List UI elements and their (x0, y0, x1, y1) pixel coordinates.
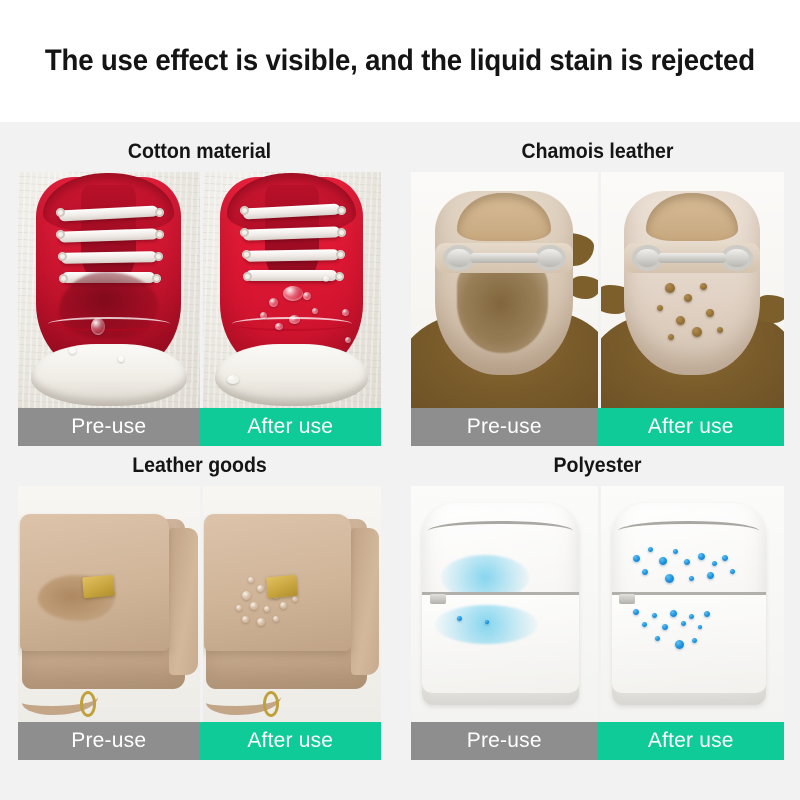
liquid-droplet-icon (342, 309, 349, 316)
comparison-pair-polyester (411, 486, 784, 722)
comparison-pair-chamois-leather (411, 172, 784, 408)
mud-droplet-icon (668, 334, 674, 340)
ink-droplet-icon (655, 636, 660, 641)
ink-droplet-icon (692, 638, 697, 643)
shoelace-icon (61, 251, 157, 264)
ink-droplet-icon (707, 572, 714, 579)
handbag-gusset (351, 528, 380, 674)
card-leather-goods: Leather goods (18, 446, 381, 760)
horsebit-hardware-icon (443, 245, 566, 271)
eyelet-icon (58, 252, 67, 261)
eyelet-icon (242, 250, 251, 259)
backpack-top-zipper-icon (428, 521, 572, 531)
photo-chamois-after-use (598, 172, 785, 408)
eyelet-icon (335, 272, 344, 281)
horsebit-bar-icon (658, 253, 726, 262)
ink-droplet-icon (684, 559, 690, 565)
label-bar-cotton-material: Pre-use After use (18, 408, 381, 446)
ink-droplet-icon (670, 610, 677, 617)
backpack-body (422, 503, 579, 706)
eyelet-icon (152, 274, 161, 283)
liquid-droplet-icon (257, 618, 265, 626)
eyelet-icon (243, 272, 252, 281)
label-pre-use: Pre-use (411, 408, 598, 446)
shoelace-icon (243, 227, 340, 241)
liquid-droplet-icon (323, 276, 329, 282)
horsebit-hardware-icon (632, 245, 753, 271)
photo-chamois-pre-use (411, 172, 598, 408)
mud-droplet-icon (684, 294, 692, 302)
eyelet-icon (154, 252, 163, 261)
liquid-droplet-icon (283, 286, 303, 301)
label-after-use: After use (598, 722, 785, 760)
label-pre-use: Pre-use (18, 722, 200, 760)
photo-leather-after-use (200, 486, 382, 722)
backpack-zipper-pull-icon (619, 594, 635, 604)
ink-droplet-icon (642, 569, 648, 575)
eyelet-icon (336, 250, 345, 259)
liquid-droplet-icon (242, 616, 249, 623)
photo-leather-pre-use (18, 486, 200, 722)
sneaker-sole (31, 344, 187, 405)
ink-droplet-icon (698, 625, 702, 629)
ink-droplet-icon (633, 609, 639, 615)
photo-cotton-after-use (200, 172, 382, 408)
ink-droplet-icon (712, 561, 717, 566)
mud-droplet-icon (657, 305, 663, 311)
photo-polyester-pre-use (411, 486, 598, 722)
liquid-droplet-icon (303, 292, 311, 300)
ink-droplet-icon (665, 574, 674, 583)
liquid-droplet-icon (118, 356, 124, 362)
sneaker-sole (215, 344, 369, 405)
horsebit-ring-icon (721, 245, 752, 271)
photo-polyester-after-use (598, 486, 785, 722)
page-title: The use effect is visible, and the liqui… (45, 44, 755, 78)
liquid-droplet-icon (312, 308, 318, 314)
ink-droplet-icon (675, 640, 684, 649)
horsebit-bar-icon (470, 253, 539, 262)
label-bar-leather-goods: Pre-use After use (18, 722, 381, 760)
ink-droplet-icon (722, 555, 728, 561)
backpack-body (612, 503, 766, 706)
eyelet-icon (337, 228, 346, 237)
shoelace-icon (245, 249, 339, 262)
backpack-zipper-pull-icon (430, 594, 446, 604)
liquid-droplet-icon (280, 602, 287, 609)
ink-droplet-icon (689, 576, 694, 581)
card-title-chamois-leather: Chamois leather (424, 132, 771, 172)
label-pre-use: Pre-use (18, 408, 200, 446)
label-bar-polyester: Pre-use After use (411, 722, 784, 760)
ink-droplet-icon (689, 614, 694, 619)
liquid-droplet-icon (264, 606, 270, 612)
mud-droplet-icon (692, 327, 702, 337)
label-bar-chamois-leather: Pre-use After use (411, 408, 784, 446)
label-pre-use: Pre-use (411, 722, 598, 760)
liquid-droplet-icon (69, 347, 76, 354)
ink-stain-soaked (435, 605, 538, 644)
eyelet-icon (155, 230, 164, 239)
ink-droplet-icon (662, 624, 668, 630)
handbag-clasp-icon (266, 574, 298, 598)
ink-droplet-icon (698, 553, 705, 560)
ink-droplet-icon (704, 611, 710, 617)
loafer-collar (457, 193, 551, 241)
handbag-clasp-icon (82, 574, 115, 598)
liquid-droplet-icon (248, 577, 254, 583)
ink-droplet-icon (648, 547, 653, 552)
comparison-pair-leather-goods (18, 486, 381, 722)
ink-droplet-icon (659, 557, 667, 565)
card-title-polyester: Polyester (424, 446, 771, 486)
liquid-droplet-icon (91, 318, 105, 335)
liquid-droplet-icon (257, 585, 264, 592)
liquid-droplet-icon (292, 596, 298, 602)
ink-droplet-icon (642, 622, 647, 627)
backpack-front-pocket (612, 592, 766, 693)
mud-droplet-icon (706, 309, 714, 317)
ink-droplet-icon (673, 549, 678, 554)
banner-header: The use effect is visible, and the liqui… (0, 0, 800, 122)
ink-droplet-icon (652, 613, 657, 618)
shoelace-icon (59, 229, 158, 243)
card-polyester: Polyester (411, 446, 784, 760)
ink-droplet-icon (633, 555, 640, 562)
liquid-droplet-icon (273, 616, 279, 622)
mud-droplet-icon (717, 327, 723, 333)
loafer-upper (624, 191, 760, 375)
card-title-leather-goods: Leather goods (31, 446, 369, 486)
material-demo-grid: Cotton material (0, 122, 800, 800)
ink-droplet-icon (730, 569, 735, 574)
liquid-droplet-icon (269, 298, 278, 307)
loafer-collar (646, 193, 738, 241)
ink-droplet-icon (681, 621, 686, 626)
label-after-use: After use (598, 408, 785, 446)
liquid-droplet-icon (260, 312, 267, 319)
backpack-top-zipper-icon (618, 521, 760, 531)
card-cotton-material: Cotton material (18, 132, 381, 446)
label-after-use: After use (200, 722, 382, 760)
mud-droplet-icon (676, 316, 685, 325)
sneaker-foxing-stripe (48, 317, 170, 331)
loafer-upper (435, 191, 573, 375)
handbag-gusset (169, 528, 198, 674)
photo-cotton-pre-use (18, 172, 200, 408)
liquid-droplet-icon (236, 605, 242, 611)
comparison-pair-cotton-material (18, 172, 381, 408)
card-chamois-leather: Chamois leather (411, 132, 784, 446)
handbag-ring-icon (80, 691, 96, 717)
mud-droplet-icon (665, 283, 675, 293)
backpack-front-pocket (422, 592, 579, 693)
card-title-cotton-material: Cotton material (31, 132, 369, 172)
label-after-use: After use (200, 408, 382, 446)
liquid-droplet-icon (250, 602, 258, 610)
mud-droplet-icon (700, 283, 707, 290)
liquid-droplet-icon (242, 591, 251, 600)
